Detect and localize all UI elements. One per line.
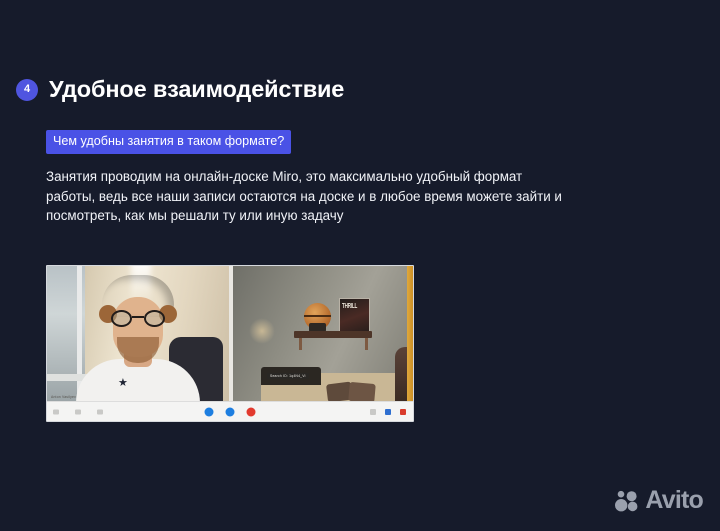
toolbar-item-6[interactable] <box>400 409 406 415</box>
toolbar-item-5[interactable] <box>385 409 391 415</box>
avito-logo: Avito <box>614 488 703 513</box>
glasses-lens-right <box>144 310 165 327</box>
toolbar-item-1[interactable] <box>53 409 59 414</box>
video-panes: ★ Anton Vasilyev <box>47 266 413 403</box>
avito-wordmark: Avito <box>645 488 703 513</box>
toolbar-left-group <box>53 409 103 414</box>
body-paragraph: Занятия проводим на онлайн-доске Miro, э… <box>46 167 569 226</box>
mic-button[interactable] <box>205 407 214 416</box>
toolbar-item-3[interactable] <box>97 409 103 414</box>
wall-shelf <box>294 331 372 338</box>
shelf-leg-left <box>299 338 302 350</box>
slide-heading: 4 Удобное взаимодействие <box>16 76 344 103</box>
curtain <box>407 266 413 403</box>
poster-title: THRILL <box>342 302 357 310</box>
shelf-leg-right <box>365 338 368 350</box>
glasses-bridge <box>132 316 144 318</box>
left-pane-caption: Anton Vasilyev <box>51 395 76 399</box>
glasses-lens-left <box>111 310 132 327</box>
page-title: Удобное взаимодействие <box>49 76 344 103</box>
toolbar-right-group <box>370 409 406 415</box>
end-call-button[interactable] <box>247 407 256 416</box>
step-number-badge: 4 <box>16 79 38 101</box>
toolbar-call-controls <box>205 407 256 416</box>
video-pane-right: THRILL Search ID: 1q4N4_Vi <box>233 266 413 403</box>
wall-light-glow <box>249 318 275 344</box>
video-call-toolbar <box>47 401 413 421</box>
glasses-icon <box>111 310 165 327</box>
tshirt-star-icon: ★ <box>118 378 128 389</box>
video-pane-left: ★ Anton Vasilyev <box>47 266 229 403</box>
sofa-pillow-2 <box>348 382 376 403</box>
question-highlight: Чем удобны занятия в таком формате? <box>46 130 291 154</box>
video-call-screenshot: ★ Anton Vasilyev <box>46 265 414 422</box>
camera-button[interactable] <box>226 407 235 416</box>
toolbar-item-2[interactable] <box>75 409 81 414</box>
toolbar-item-4[interactable] <box>370 409 376 415</box>
framed-poster: THRILL <box>339 298 370 332</box>
avito-dots-icon <box>614 490 640 512</box>
slide-canvas: 4 Удобное взаимодействие Чем удобны заня… <box>0 0 720 531</box>
right-pane-caption: Search ID: 1q4N4_Vi <box>267 373 309 379</box>
